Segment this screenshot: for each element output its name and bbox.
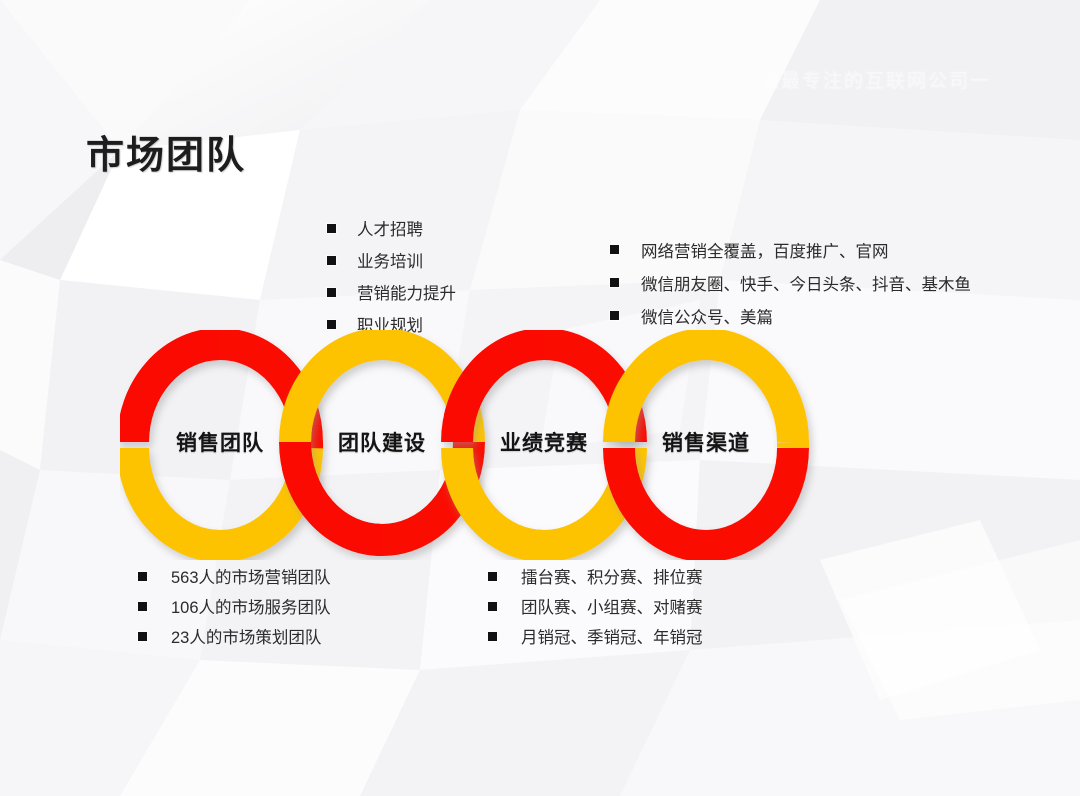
list-item-label: 563人的市场营销团队 [171,564,331,588]
square-bullet-icon [327,256,336,265]
list-recruit: 人才招聘 业务培训 营销能力提升 职业规划 [327,212,456,340]
ring-label-1: 销售团队 [176,427,264,457]
list-item-label: 网络营销全覆盖，百度推广、官网 [641,238,889,262]
square-bullet-icon [610,278,619,287]
square-bullet-icon [327,320,336,329]
list-channels: 网络营销全覆盖，百度推广、官网 微信朋友圈、快手、今日头条、抖音、基木鱼 微信公… [610,233,971,332]
page-title: 市场团队 [86,124,246,179]
list-item-label: 106人的市场服务团队 [171,594,331,618]
list-item: 业务培训 [327,244,456,276]
list-item-label: 微信公众号、美篇 [641,304,773,328]
list-item: 23人的市场策划团队 [138,621,331,651]
square-bullet-icon [327,288,336,297]
list-item-label: 月销冠、季销冠、年销冠 [521,624,703,648]
list-item: 擂台赛、积分赛、排位赛 [488,561,703,591]
list-item: 人才招聘 [327,212,456,244]
ring-chain: 销售团队 团队建设 业绩竞赛 销售渠道 [120,330,880,560]
list-item-label: 营销能力提升 [357,280,456,304]
list-item-label: 团队赛、小组赛、对赌赛 [521,594,703,618]
square-bullet-icon [488,572,497,581]
list-item-label: 业务培训 [357,248,423,272]
ring-label-3: 业绩竞赛 [500,427,588,457]
square-bullet-icon [488,632,497,641]
list-item: 106人的市场服务团队 [138,591,331,621]
list-item: 月销冠、季销冠、年销冠 [488,621,703,651]
square-bullet-icon [138,572,147,581]
square-bullet-icon [138,632,147,641]
square-bullet-icon [488,602,497,611]
list-item: 营销能力提升 [327,276,456,308]
square-bullet-icon [138,602,147,611]
list-item-label: 人才招聘 [357,216,423,240]
ring-label-2: 团队建设 [338,427,426,457]
list-item-label: 微信朋友圈、快手、今日头条、抖音、基木鱼 [641,271,971,295]
list-headcount: 563人的市场营销团队 106人的市场服务团队 23人的市场策划团队 [138,561,331,651]
square-bullet-icon [610,311,619,320]
list-item: 微信朋友圈、快手、今日头条、抖音、基木鱼 [610,266,971,299]
list-item: 网络营销全覆盖，百度推广、官网 [610,233,971,266]
list-item: 团队赛、小组赛、对赌赛 [488,591,703,621]
list-contests: 擂台赛、积分赛、排位赛 团队赛、小组赛、对赌赛 月销冠、季销冠、年销冠 [488,561,703,651]
list-item-label: 擂台赛、积分赛、排位赛 [521,564,703,588]
ring-label-4: 销售渠道 [662,427,750,457]
square-bullet-icon [610,245,619,254]
list-item-label: 23人的市场策划团队 [171,624,321,648]
list-item: 563人的市场营销团队 [138,561,331,591]
slide-canvas: 做最专注的互联网公司一 市场团队 人才招聘 业务培训 营销能力提升 职业规划 网… [0,0,1080,796]
list-item: 微信公众号、美篇 [610,299,971,332]
square-bullet-icon [327,224,336,233]
